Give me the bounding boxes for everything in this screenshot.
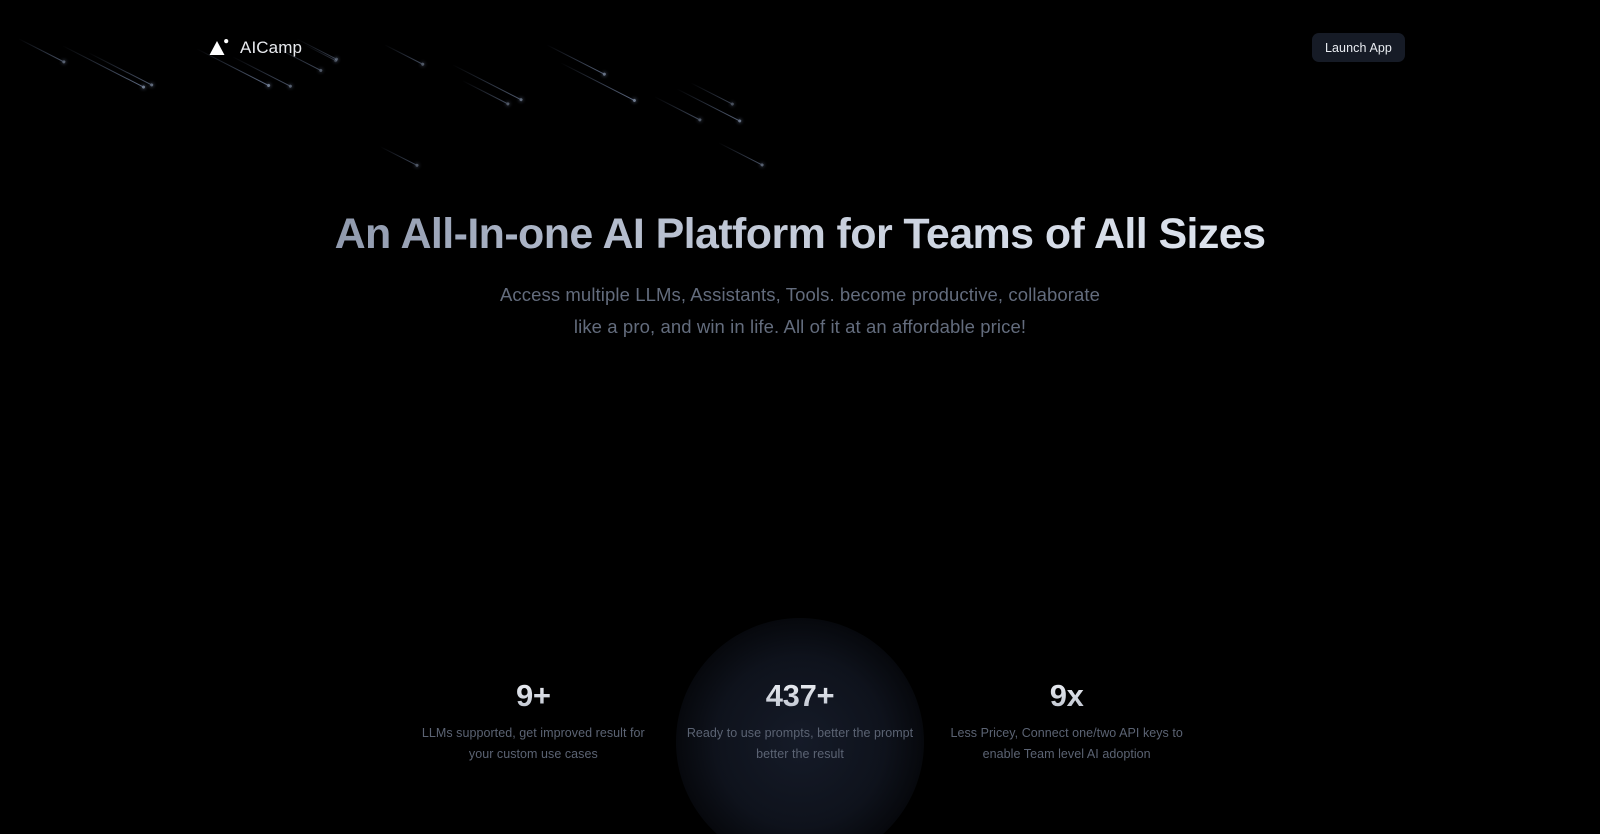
stat-value: 9x [943, 678, 1190, 714]
brand-name: AICamp [240, 38, 302, 58]
stat-value: 437+ [677, 678, 924, 714]
site-header: AICamp Launch App [0, 0, 1600, 96]
launch-app-button[interactable]: Launch App [1312, 33, 1405, 62]
hero-subtitle: Access multiple LLMs, Assistants, Tools.… [0, 279, 1600, 343]
hero-subtitle-line-2: like a pro, and win in life. All of it a… [0, 311, 1600, 343]
stat-description: Ready to use prompts, better the prompt … [677, 723, 924, 764]
landing-page: AICamp Launch App An All-In-one AI Platf… [0, 0, 1600, 834]
stat-description: Less Pricey, Connect one/two API keys to… [943, 723, 1190, 764]
stat-description-line-1: Less Pricey, Connect one/two API keys to [943, 723, 1190, 744]
meteor-line [718, 142, 763, 166]
stat-item-prompts: 437+ Ready to use prompts, better the pr… [667, 678, 934, 764]
stat-item-llms: 9+ LLMs supported, get improved result f… [400, 678, 667, 764]
hero-section: An All-In-one AI Platform for Teams of A… [0, 208, 1600, 343]
stats-row: 9+ LLMs supported, get improved result f… [400, 678, 1200, 764]
meteor-line [380, 146, 418, 166]
stat-description-line-2: better the result [677, 744, 924, 765]
stat-description-line-2: enable Team level AI adoption [943, 744, 1190, 765]
stat-description-line-1: LLMs supported, get improved result for [410, 723, 657, 744]
stat-description-line-2: your custom use cases [410, 744, 657, 765]
stat-value: 9+ [410, 678, 657, 714]
page-title: An All-In-one AI Platform for Teams of A… [0, 208, 1600, 261]
meteor-line [654, 96, 701, 120]
brand-logo[interactable]: AICamp [208, 36, 302, 60]
mountain-peak-icon [208, 38, 230, 58]
stat-description: LLMs supported, get improved result for … [410, 723, 657, 764]
hero-subtitle-line-1: Access multiple LLMs, Assistants, Tools.… [0, 279, 1600, 311]
stat-description-line-1: Ready to use prompts, better the prompt [677, 723, 924, 744]
stat-item-pricing: 9x Less Pricey, Connect one/two API keys… [933, 678, 1200, 764]
